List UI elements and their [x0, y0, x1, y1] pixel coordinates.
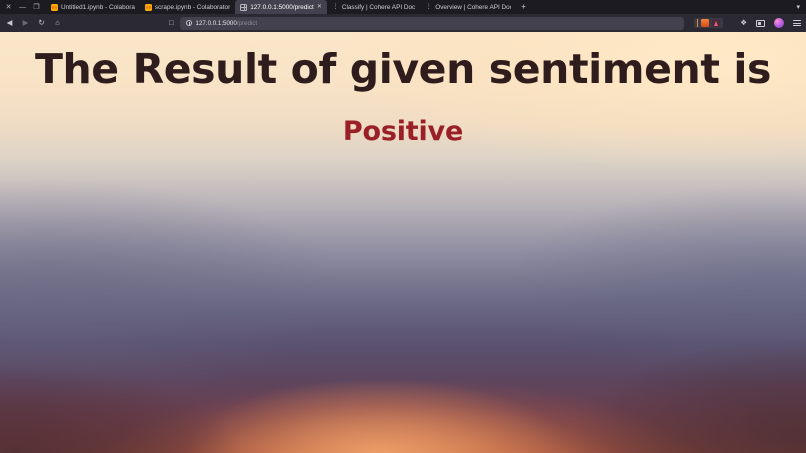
extension-icon-triangle[interactable] [712, 19, 720, 27]
close-window-button[interactable]: ✕ [5, 4, 12, 11]
tab-title: scrape.ipynb - Colaborator [155, 4, 230, 11]
reload-button[interactable]: ↻ [37, 19, 46, 27]
back-button[interactable]: ◀ [5, 19, 14, 27]
tab-title: Overview | Cohere API Doc [435, 4, 511, 11]
tab-strip: ✕ — ❐ Untitled1.ipynb - Colabora scrape.… [0, 0, 806, 14]
url-text: 127.0.0.1:5000/predict [196, 20, 258, 27]
browser-window: ✕ — ❐ Untitled1.ipynb - Colabora scrape.… [0, 0, 806, 453]
extensions-puzzle-icon[interactable]: ❖ [740, 19, 747, 27]
sentiment-result: Positive [0, 117, 806, 147]
tab-title: Untitled1.ipynb - Colabora [61, 4, 135, 11]
forward-button[interactable]: ▶ [21, 19, 30, 27]
address-bar[interactable]: 127.0.0.1:5000/predict [180, 17, 685, 30]
extension-divider [697, 19, 698, 27]
globe-icon [240, 4, 247, 11]
tab-overview-cohere[interactable]: ⋮ Overview | Cohere API Doc [420, 0, 516, 14]
tab-list: Untitled1.ipynb - Colabora scrape.ipynb … [46, 0, 664, 14]
tab-strip-actions: ▾ [796, 0, 806, 14]
tab-title: 127.0.0.1:5000/predict [250, 4, 314, 11]
tab-strip-spacer [664, 0, 797, 14]
vertical-dots-icon: ⋮ [332, 4, 339, 11]
pinned-extensions-group [694, 18, 723, 28]
address-bar-area: □ 127.0.0.1:5000/predict [169, 17, 723, 30]
home-button[interactable]: ⌂ [53, 19, 62, 27]
avatar[interactable] [774, 18, 784, 28]
list-all-tabs-icon[interactable]: ▾ [796, 4, 800, 11]
page-content: The Result of given sentiment is Positiv… [0, 32, 806, 147]
vertical-dots-icon: ⋮ [425, 4, 432, 11]
url-path: /predict [237, 20, 257, 27]
bookmark-icon[interactable]: □ [169, 19, 174, 27]
tab-classify-cohere[interactable]: ⋮ Classify | Cohere API Doc [327, 0, 420, 14]
colab-icon [145, 4, 152, 11]
navigation-toolbar: ◀ ▶ ↻ ⌂ □ 127.0.0.1:5000/predict ❖ [0, 14, 806, 32]
tab-predict-active[interactable]: 127.0.0.1:5000/predict ✕ [235, 0, 327, 14]
window-controls: ✕ — ❐ [0, 0, 46, 14]
extension-icon-orange[interactable] [701, 19, 709, 27]
url-host: 127.0.0.1:5000 [196, 20, 237, 27]
page-title: The Result of given sentiment is [0, 48, 806, 91]
site-info-icon[interactable] [186, 20, 192, 26]
page-viewport: The Result of given sentiment is Positiv… [0, 32, 806, 453]
tab-untitled1-ipynb[interactable]: Untitled1.ipynb - Colabora [46, 0, 140, 14]
colab-icon [51, 4, 58, 11]
minimize-window-button[interactable]: — [19, 4, 26, 11]
new-tab-button[interactable]: + [516, 0, 531, 14]
tab-scrape-ipynb[interactable]: scrape.ipynb - Colaborator [140, 0, 235, 14]
close-tab-icon[interactable]: ✕ [317, 4, 322, 10]
browser-menu-icon[interactable] [793, 19, 801, 27]
screencast-icon[interactable] [756, 20, 765, 27]
maximize-window-button[interactable]: ❐ [33, 4, 40, 11]
tab-title: Classify | Cohere API Doc [342, 4, 415, 11]
toolbar-actions: ❖ [730, 18, 801, 28]
